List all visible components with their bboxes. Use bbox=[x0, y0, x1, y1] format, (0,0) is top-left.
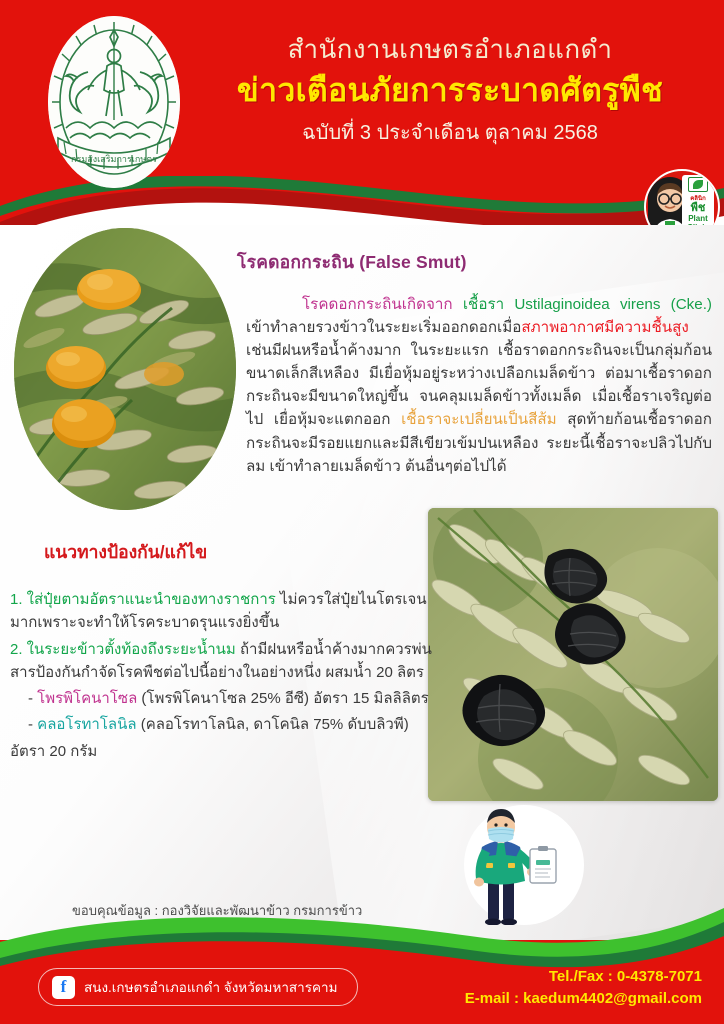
guideline-item-1: 1. ใส่ปุ๋ยตามอัตราแนะนำของทางราชการ ไม่ค… bbox=[10, 588, 434, 635]
desc-segment-pathogen: เชื้อรา Ustilaginoidea virens (Cke.) bbox=[463, 296, 712, 313]
chemical-item-2: - คลอโรทาโลนิล (คลอโรทาโลนิล, ดาโคนิล 75… bbox=[10, 713, 434, 736]
photo-false-smut-orange bbox=[14, 228, 236, 510]
clinic-thai-line2: พืช bbox=[691, 203, 706, 214]
bulletin-title: ข่าวเตือนภัยการระบาดศัตรูพืช bbox=[200, 67, 700, 113]
facebook-page-pill[interactable]: f สนง.เกษตรอำเภอแกดำ จังหวัดมหาสารคาม bbox=[38, 968, 358, 1006]
chem-1-name: โพรพิโคนาโซล bbox=[37, 690, 137, 707]
chem-2-name: คลอโรทาโลนิล bbox=[37, 716, 136, 733]
poster-root: กรมส่งเสริมการเกษตร สำนักงานเกษตรอำเภอแก… bbox=[0, 0, 724, 1024]
chem-1-rest: (โพรพิโคนาโซล 25% อีซี) อัตรา 15 มิลลิลิ… bbox=[137, 690, 428, 707]
organization-name: สำนักงานเกษตรอำเภอแกดำ bbox=[200, 32, 700, 67]
chem-2-dash: - bbox=[28, 716, 37, 733]
disease-description: โรคดอกกระถินเกิดจาก เชื้อรา Ustilaginoid… bbox=[246, 293, 712, 478]
header-text-group: สำนักงานเกษตรอำเภอแกดำ ข่าวเตือนภัยการระ… bbox=[200, 32, 700, 149]
chem-1-dash: - bbox=[28, 690, 37, 707]
guideline-item-2: 2. ในระยะข้าวตั้งท้องถึงระยะน้ำนม ถ้ามีฝ… bbox=[10, 638, 434, 685]
leaf-icon bbox=[688, 177, 708, 192]
chemical-item-1: - โพรพิโคนาโซล (โพรพิโคนาโซล 25% อีซี) อ… bbox=[10, 687, 434, 710]
guideline-1-highlight: 1. ใส่ปุ๋ยตามอัตราแนะนำของทางราชการ bbox=[10, 591, 276, 608]
guideline-2-highlight: 2. ในระยะข้าวตั้งท้องถึงระยะน้ำนม bbox=[10, 641, 236, 658]
email-address[interactable]: E-mail : kaedum4402@gmail.com bbox=[465, 988, 702, 1010]
contact-info: Tel./Fax : 0-4378-7071 E-mail : kaedum44… bbox=[465, 966, 702, 1010]
guidelines-heading: แนวทางป้องกัน/แก้ไข bbox=[44, 538, 207, 566]
desc-segment-humidity: สภาพอากาศมีความชื้นสูง bbox=[521, 319, 688, 336]
chemical-2-rate: อัตรา 20 กรัม bbox=[10, 740, 434, 763]
issue-line: ฉบับที่ 3 ประจำเดือน ตุลาคม 2568 bbox=[200, 117, 700, 149]
desc-segment-1: โรคดอกกระถินเกิดจาก bbox=[302, 296, 463, 313]
guidelines-list: 1. ใส่ปุ๋ยตามอัตราแนะนำของทางราชการ ไม่ค… bbox=[10, 588, 434, 766]
chem-2-rest: (คลอโรทาโลนิล, ดาโคนิล 75% ดับบลิวพี) bbox=[137, 716, 409, 733]
photo-false-smut-black bbox=[428, 508, 718, 801]
facebook-page-name: สนง.เกษตรอำเภอแกดำ จังหวัดมหาสารคาม bbox=[84, 976, 338, 998]
seal-text: กรมส่งเสริมการเกษตร bbox=[71, 154, 157, 164]
facebook-icon[interactable]: f bbox=[52, 976, 75, 999]
desc-segment-orange-stage: เชื้อราจะเปลี่ยนเป็นสีส้ม bbox=[401, 411, 557, 428]
telephone-fax: Tel./Fax : 0-4378-7071 bbox=[465, 966, 702, 988]
disease-title: โรคดอกกระถิน (False Smut) bbox=[237, 248, 667, 276]
department-seal-logo: กรมส่งเสริมการเกษตร bbox=[48, 16, 180, 188]
desc-segment-3: เข้าทำลายรวงข้าวในระยะเริ่มออกดอกเมื่อ bbox=[246, 319, 521, 336]
